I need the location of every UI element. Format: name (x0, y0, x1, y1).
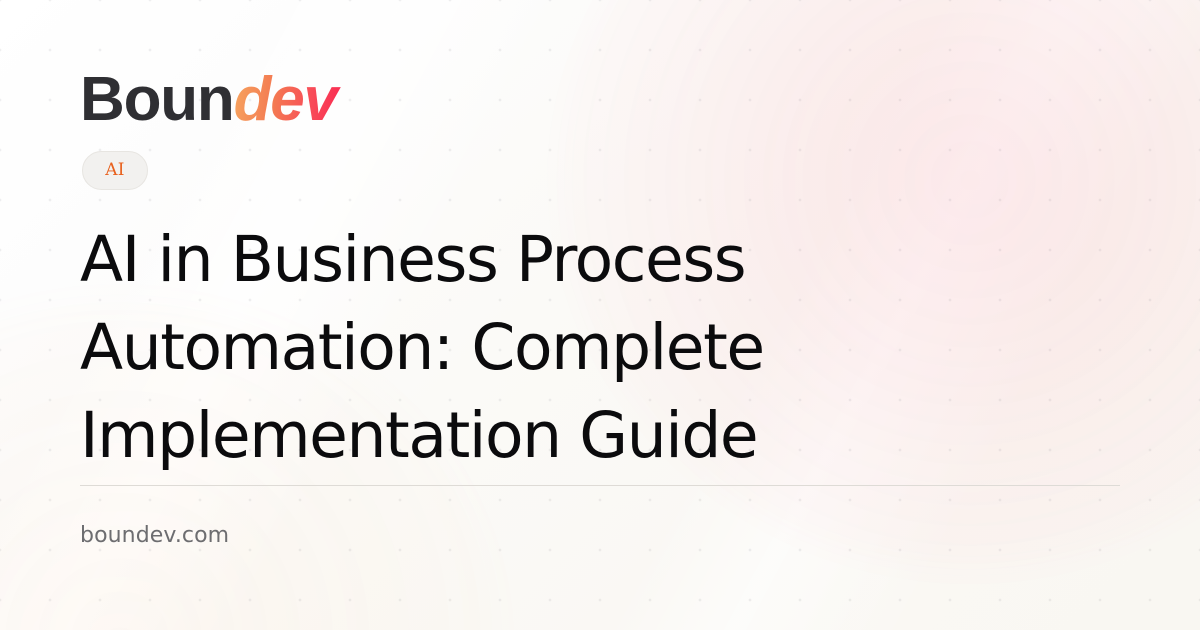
category-badge-label: AI (105, 162, 125, 179)
divider-rule (80, 485, 1120, 486)
brand-logo-primary: Boun (80, 65, 234, 134)
content-column: Boundev AI AI in Business Process Automa… (80, 0, 1120, 630)
page-title: AI in Business Process Automation: Compl… (80, 216, 960, 480)
site-domain: boundev.com (80, 521, 229, 551)
category-badge[interactable]: AI (82, 151, 148, 190)
og-card: Boundev AI AI in Business Process Automa… (0, 0, 1200, 630)
brand-logo[interactable]: Boundev (80, 69, 341, 131)
brand-logo-accent: dev (234, 65, 341, 134)
